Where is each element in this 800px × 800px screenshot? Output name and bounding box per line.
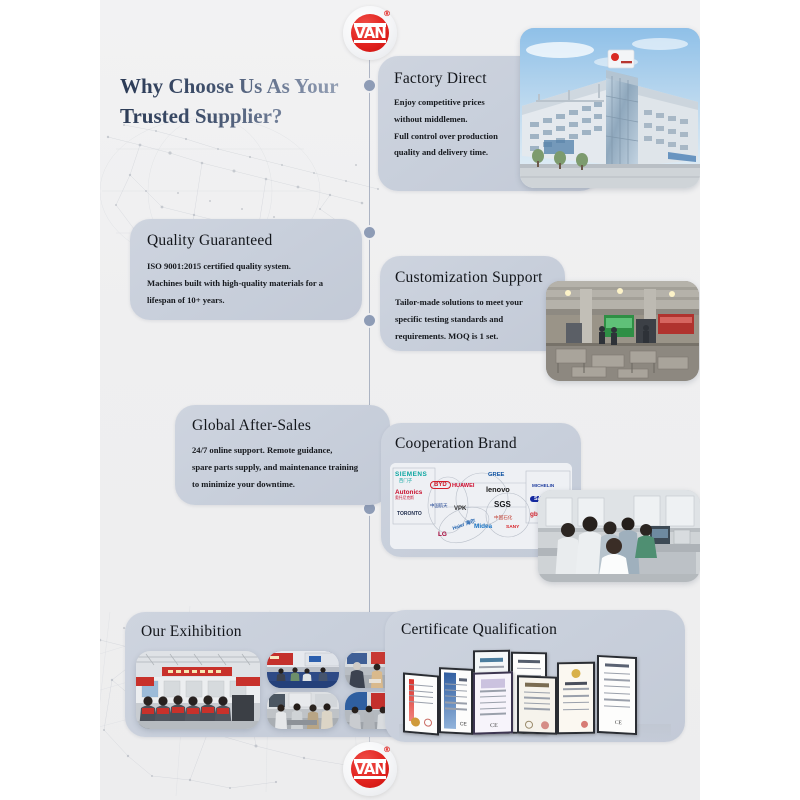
card-title: Customization Support [395, 269, 565, 286]
logo-wordmark: VAN [354, 24, 386, 42]
card-title: Cooperation Brand [395, 435, 581, 452]
brand-logo-huawei: HUAWEI [452, 483, 474, 489]
card-quality-guaranteed: Quality Guaranteed ISO 9001:2015 certifi… [130, 219, 362, 320]
card-certificate-qualification: Certificate Qualification CE [385, 610, 685, 742]
card-body: ISO 9001:2015 certified quality system. … [147, 258, 352, 308]
certificate-frame: CE [473, 671, 513, 734]
company-logo-badge-bottom: VAN ® [343, 742, 397, 796]
logo-wordmark: VAN [354, 760, 386, 778]
photo-factory-building [520, 28, 700, 188]
photo-exhibition-aisle [267, 651, 339, 688]
certificate-frame [557, 662, 595, 735]
brand-logo-casc: 中国航天 [430, 503, 448, 509]
certificate-frame [403, 672, 439, 735]
brand-logo-siemens: SIEMENS [395, 471, 427, 478]
card-customization-support: Customization Support Tailor-made soluti… [380, 256, 565, 351]
page-title: Why Choose Us As Your Trusted Supplier? [120, 72, 370, 132]
timeline-dot [364, 227, 375, 238]
card-body: Tailor-made solutions to meet your speci… [395, 294, 550, 344]
certificate-frame: CE [597, 655, 637, 735]
brand-logo-haier: Haier 海尔 [452, 517, 477, 532]
certificate-frame: CE [439, 667, 473, 735]
page-canvas: VAN ® Why Choose Us As Your Trusted Supp… [100, 0, 700, 800]
card-title: Global After-Sales [192, 417, 390, 434]
brand-logo-byd: BYD [430, 481, 451, 489]
brand-logo-sany: SANY [506, 525, 519, 530]
brand-logo-lg: LG [438, 531, 447, 538]
brand-logo-sgs: SGS [494, 500, 511, 509]
card-global-after-sales: Global After-Sales 24/7 online support. … [175, 405, 390, 505]
logo-icon: VAN [351, 14, 389, 52]
company-logo-badge-top: VAN ® [343, 6, 397, 60]
brand-logo-vpk: VPK [454, 506, 466, 512]
timeline-dot [364, 315, 375, 326]
card-title: Certificate Qualification [401, 621, 685, 638]
brand-logo-gree: GREE [488, 472, 504, 478]
brand-logo-autonics: Autonics [395, 489, 422, 496]
card-title: Quality Guaranteed [147, 232, 362, 249]
registered-trademark-icon: ® [383, 745, 391, 754]
photo-training-laboratory [538, 490, 700, 582]
photo-exhibition-demo [267, 692, 339, 729]
logo-icon: VAN [351, 750, 389, 788]
card-body: 24/7 online support. Remote guidance, sp… [192, 442, 382, 492]
brand-logo-toronto: TORONTO [397, 511, 422, 517]
photo-workshop-floor [546, 281, 699, 381]
brand-logo-midea: Midea [474, 523, 492, 530]
registered-trademark-icon: ® [383, 9, 391, 18]
brand-logo-sinopec: 中国石化 [494, 515, 512, 521]
brand-logo-lenovo: lenovo [486, 485, 510, 494]
brand-logo-siemens-cn: 西门子 [399, 478, 412, 484]
certificate-frame [517, 675, 557, 734]
brand-logo-michelin: MICHELIN [532, 483, 554, 488]
photo-exhibition-booth-team [136, 651, 260, 729]
certificate-display: CE CE CE [399, 646, 671, 734]
brand-logo-autonics-cn: 奥托尼克斯 [395, 496, 414, 501]
